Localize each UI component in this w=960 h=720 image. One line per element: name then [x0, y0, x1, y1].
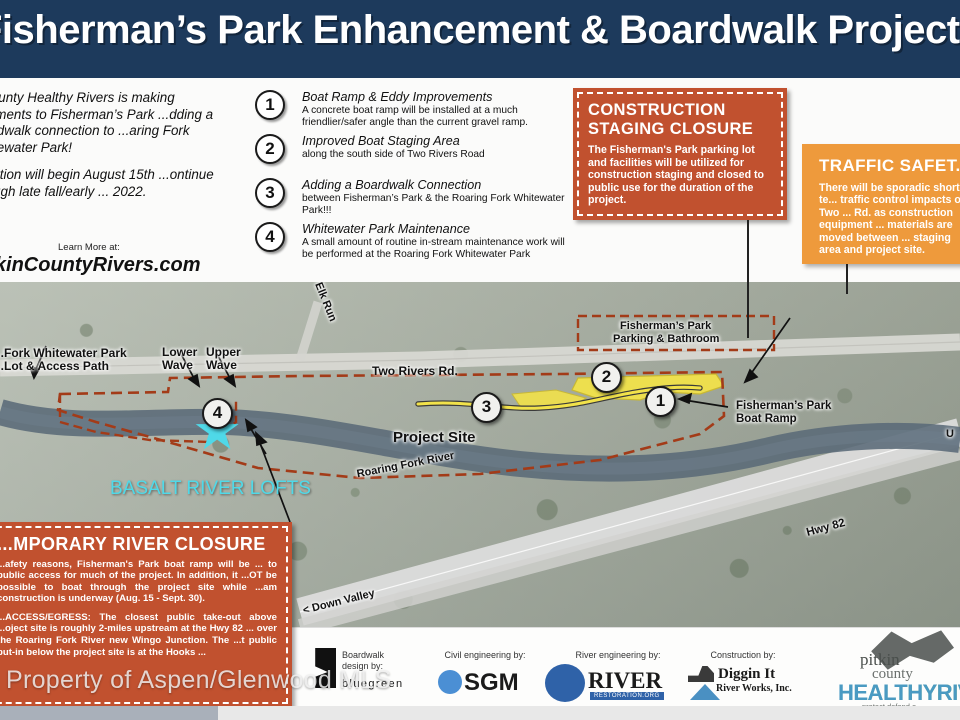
list-item-body: along the south side of Two Rivers Road: [302, 149, 565, 161]
map-label-project-site: Project Site: [393, 429, 476, 446]
list-number-badge: 3: [255, 178, 285, 208]
map-label-boat-ramp: Fisherman’s Park: [736, 400, 831, 412]
map-label-parking-bathroom-line2: Parking & Bathroom: [613, 333, 719, 345]
map-label-upper-wave: Upper: [206, 345, 241, 359]
callout-body-paragraph-2: ...ACCESS/EGRESS: The closest public tak…: [0, 612, 277, 658]
river-credit-label: River engineering by:: [548, 650, 688, 661]
map-label-lower-wave: Lower: [162, 345, 197, 359]
improvements-list: 1 Boat Ramp & Eddy Improvements A concre…: [255, 90, 565, 266]
diggin-credit-label: Construction by:: [678, 650, 808, 661]
map-label-up-valley: U: [946, 428, 954, 440]
website-link[interactable]: ...itkinCountyRivers.com: [0, 254, 201, 277]
river-logo-text: RIVER: [588, 668, 662, 694]
map-label-whitewater-park: ...Fork Whitewater Park: [0, 346, 127, 360]
list-item-body: A concrete boat ramp will be installed a…: [302, 105, 565, 128]
mls-watermark: Property of Aspen/Glenwood MLS: [6, 666, 392, 695]
traffic-leader-line: [846, 264, 848, 294]
sgm-logo-text: SGM: [464, 669, 519, 697]
callout-title: ...MPORARY RIVER CLOSURE: [0, 535, 277, 554]
intro-text-block: ...County Healthy Rivers is making ...ve…: [0, 90, 240, 211]
sgm-logo-icon: [438, 670, 462, 694]
map-marker-3[interactable]: 3: [471, 392, 502, 423]
list-item: 2 Improved Boat Staging Area along the s…: [255, 134, 565, 176]
list-item-title: Improved Boat Staging Area: [302, 134, 565, 148]
map-marker-1[interactable]: 1: [645, 386, 676, 417]
map-marker-2[interactable]: 2: [591, 362, 622, 393]
list-item-title: Boat Ramp & Eddy Improvements: [302, 90, 565, 104]
horizontal-scrollbar[interactable]: [0, 706, 960, 720]
diggin-logo-text: Diggin It: [718, 666, 775, 683]
list-item: 3 Adding a Boardwalk Connection between …: [255, 178, 565, 220]
scrollbar-thumb[interactable]: [0, 706, 218, 720]
callout-title: TRAFFIC SAFET...: [819, 157, 960, 176]
map-label-boat-ramp-line2: Boat Ramp: [736, 413, 797, 425]
map-label-two-rivers-rd: Two Rivers Rd.: [372, 364, 458, 378]
map-label-lower-wave-line2: Wave: [162, 358, 193, 372]
list-item-title: Adding a Boardwalk Connection: [302, 178, 565, 192]
list-number-badge: 1: [255, 90, 285, 120]
intro-paragraph-1: ...County Healthy Rivers is making ...ve…: [0, 90, 240, 156]
list-item-title: Whitewater Park Maintenance: [302, 222, 565, 236]
learn-more-label: Learn More at:: [58, 242, 120, 253]
list-item: 1 Boat Ramp & Eddy Improvements A concre…: [255, 90, 565, 132]
intro-paragraph-2: ...ruction will begin August 15th ...ont…: [0, 167, 240, 200]
poster-page: Fisherman’s Park Enhancement & Boardwalk…: [0, 0, 960, 720]
map-label-parking-bathroom: Fisherman’s Park: [620, 320, 711, 332]
bluegreen-credit-label: Boardwalk: [342, 650, 416, 661]
river-logo-icon: [545, 664, 585, 702]
callout-title: CONSTRUCTION STAGING CLOSURE: [588, 101, 772, 138]
callout-body: There will be sporadic short-te... traff…: [819, 182, 960, 258]
map-marker-4[interactable]: 4: [202, 398, 233, 429]
river-logo-subtext: RESTORATION.ORG: [590, 692, 664, 700]
sgm-credit-label: Civil engineering by:: [420, 650, 550, 661]
list-number-badge: 2: [255, 134, 285, 164]
callout-body: The Fisherman's Park parking lot and fac…: [588, 144, 772, 207]
list-number-badge: 4: [255, 222, 285, 252]
list-item-body: A small amount of routine in-stream main…: [302, 237, 565, 260]
list-item: 4 Whitewater Park Maintenance A small am…: [255, 222, 565, 264]
list-item-body: between Fisherman’s Park & the Roaring F…: [302, 193, 565, 216]
diggin-logo-subtext: River Works, Inc.: [716, 683, 792, 694]
callout-body-paragraph-1: ...afety reasons, Fisherman's Park boat …: [0, 559, 277, 605]
callout-traffic-safety: TRAFFIC SAFET... There will be sporadic …: [802, 144, 960, 264]
callout-construction-staging: CONSTRUCTION STAGING CLOSURE The Fisherm…: [573, 88, 787, 220]
poster-title-bar: Fisherman’s Park Enhancement & Boardwalk…: [0, 0, 960, 78]
map-label-basalt-river-lofts: BASALT RIVER LOFTS: [110, 478, 311, 500]
map-label-whitewater-park-line2: ...Lot & Access Path: [0, 359, 109, 373]
excavator-icon: [688, 666, 714, 682]
page-title: Fisherman’s Park Enhancement & Boardwalk…: [0, 8, 960, 53]
map-label-upper-wave-line2: Wave: [206, 358, 237, 372]
staging-leader-line: [747, 220, 749, 338]
